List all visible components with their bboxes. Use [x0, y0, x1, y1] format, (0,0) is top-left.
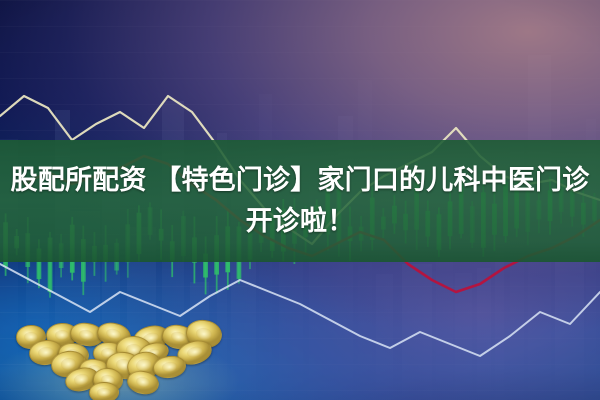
headline-text: 股配所配资 【特色门诊】家门口的儿科中医门诊开诊啦！ [7, 160, 593, 242]
banner-image: 股配所配资 【特色门诊】家门口的儿科中医门诊开诊啦！ [0, 0, 600, 400]
headline-banner: 股配所配资 【特色门诊】家门口的儿科中医门诊开诊啦！ [0, 140, 600, 262]
gold-coin-pile [8, 324, 223, 400]
